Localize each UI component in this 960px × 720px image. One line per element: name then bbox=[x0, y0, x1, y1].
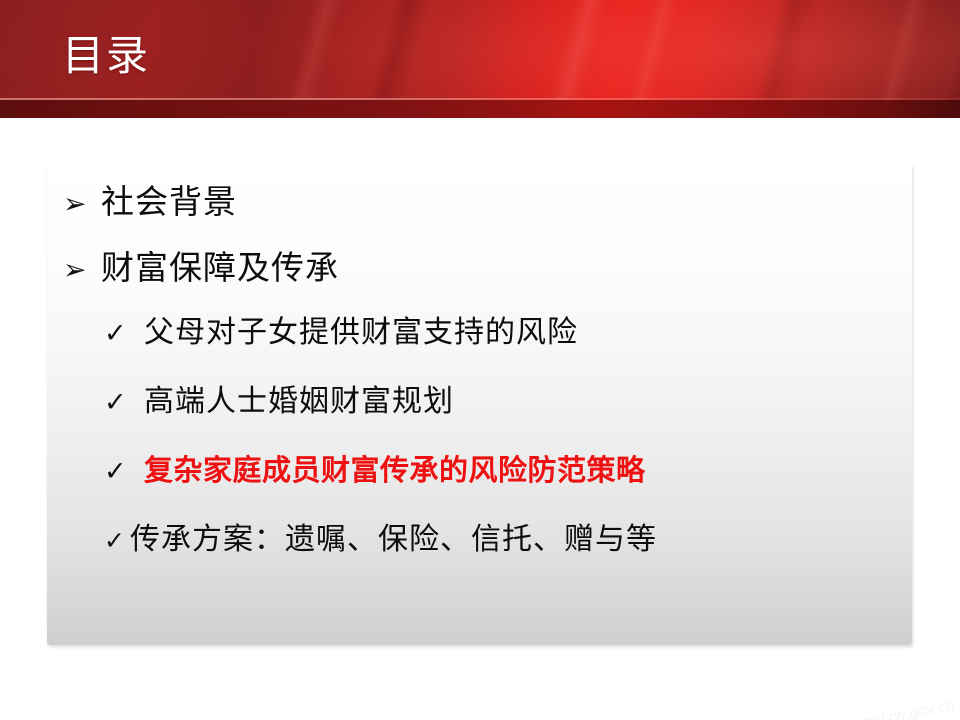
content-panel: ➢ 社会背景 ➢ 财富保障及传承 ✓ 父母对子女提供财富支持的风险 ✓ 高端人士… bbox=[47, 164, 912, 645]
list-item-label: 父母对子女提供财富支持的风险 bbox=[144, 314, 578, 352]
list-item-label: 财富保障及传承 bbox=[101, 248, 339, 288]
list-item[interactable]: ✓ 高端人士婚姻财富规划 bbox=[47, 383, 912, 452]
list-item[interactable]: ✓ 父母对子女提供财富支持的风险 bbox=[47, 314, 912, 383]
arrow-bullet-icon: ➢ bbox=[59, 253, 101, 287]
check-bullet-icon: ✓ bbox=[104, 524, 130, 558]
list-item-label: 社会背景 bbox=[101, 182, 237, 222]
slide-header-banner: 目录 bbox=[0, 0, 960, 118]
page-title: 目录 bbox=[62, 30, 150, 82]
list-item-label: 高端人士婚姻财富规划 bbox=[144, 383, 454, 421]
check-bullet-icon: ✓ bbox=[104, 455, 144, 489]
banner-base-band bbox=[0, 100, 960, 118]
list-item[interactable]: ➢ 财富保障及传承 bbox=[47, 248, 912, 314]
list-item-highlighted[interactable]: ✓ 复杂家庭成员财富传承的风险防范策略 bbox=[47, 452, 912, 521]
check-bullet-icon: ✓ bbox=[104, 317, 144, 351]
watermark: nmgrzw.gov.cn bbox=[849, 696, 956, 720]
list-item[interactable]: ➢ 社会背景 bbox=[47, 182, 912, 248]
arrow-bullet-icon: ➢ bbox=[59, 187, 101, 221]
list-item-label: 传承方案：遗嘱、保险、信托、赠与等 bbox=[130, 521, 657, 559]
check-bullet-icon: ✓ bbox=[104, 386, 144, 420]
agenda-list: ➢ 社会背景 ➢ 财富保障及传承 ✓ 父母对子女提供财富支持的风险 ✓ 高端人士… bbox=[47, 164, 912, 590]
slide: 目录 ➢ 社会背景 ➢ 财富保障及传承 ✓ 父母对子女提供财富支持的风险 ✓ 高… bbox=[0, 0, 960, 720]
list-item-label: 复杂家庭成员财富传承的风险防范策略 bbox=[144, 452, 646, 490]
list-item[interactable]: ✓ 传承方案：遗嘱、保险、信托、赠与等 bbox=[47, 521, 912, 590]
